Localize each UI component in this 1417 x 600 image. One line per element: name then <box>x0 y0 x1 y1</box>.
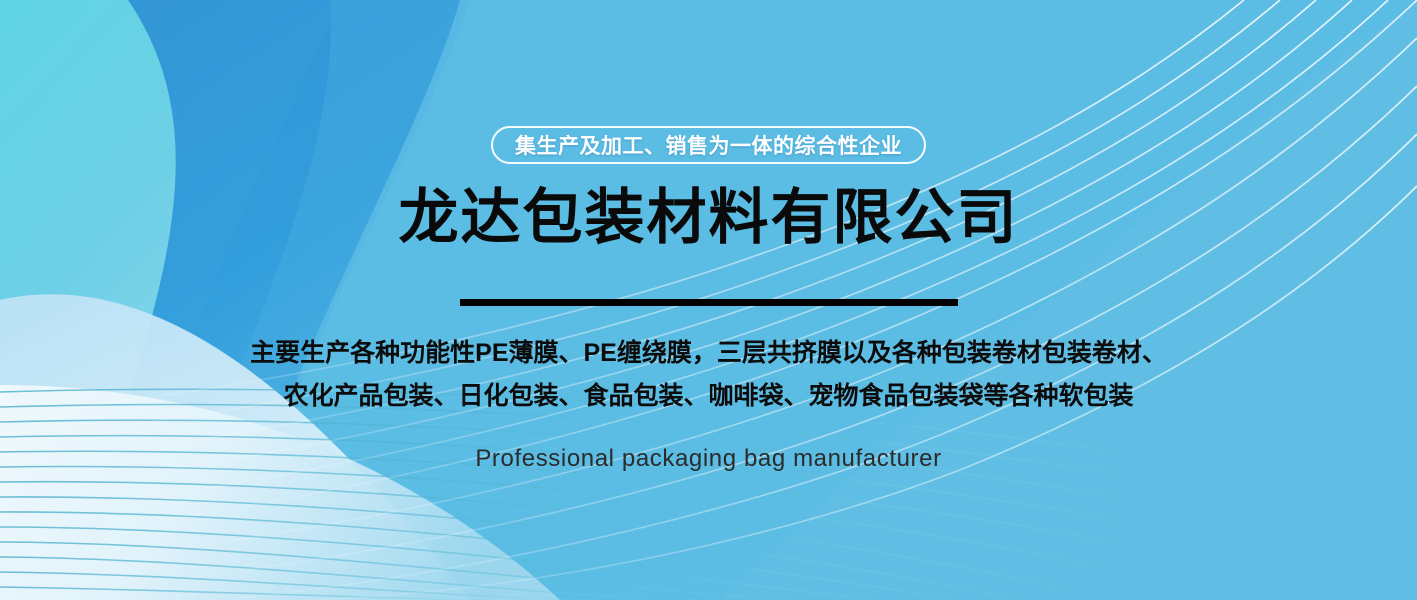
tagline-text: 集生产及加工、销售为一体的综合性企业 <box>515 130 902 160</box>
description-line-1: 主要生产各种功能性PE薄膜、PE缠绕膜，三层共挤膜以及各种包装卷材包装卷材、 <box>250 332 1167 375</box>
banner-content: 集生产及加工、销售为一体的综合性企业 龙达包装材料有限公司 主要生产各种功能性P… <box>0 0 1417 600</box>
promotional-banner: 集生产及加工、销售为一体的综合性企业 龙达包装材料有限公司 主要生产各种功能性P… <box>0 0 1417 600</box>
tagline-badge: 集生产及加工、销售为一体的综合性企业 <box>491 126 926 164</box>
english-subtitle: Professional packaging bag manufacturer <box>475 445 941 473</box>
description-block: 主要生产各种功能性PE薄膜、PE缠绕膜，三层共挤膜以及各种包装卷材包装卷材、 农… <box>250 332 1167 418</box>
description-line-2: 农化产品包装、日化包装、食品包装、咖啡袋、宠物食品包装袋等各种软包装 <box>250 375 1167 418</box>
company-title: 龙达包装材料有限公司 <box>399 186 1019 249</box>
title-underline-rule <box>460 299 958 306</box>
